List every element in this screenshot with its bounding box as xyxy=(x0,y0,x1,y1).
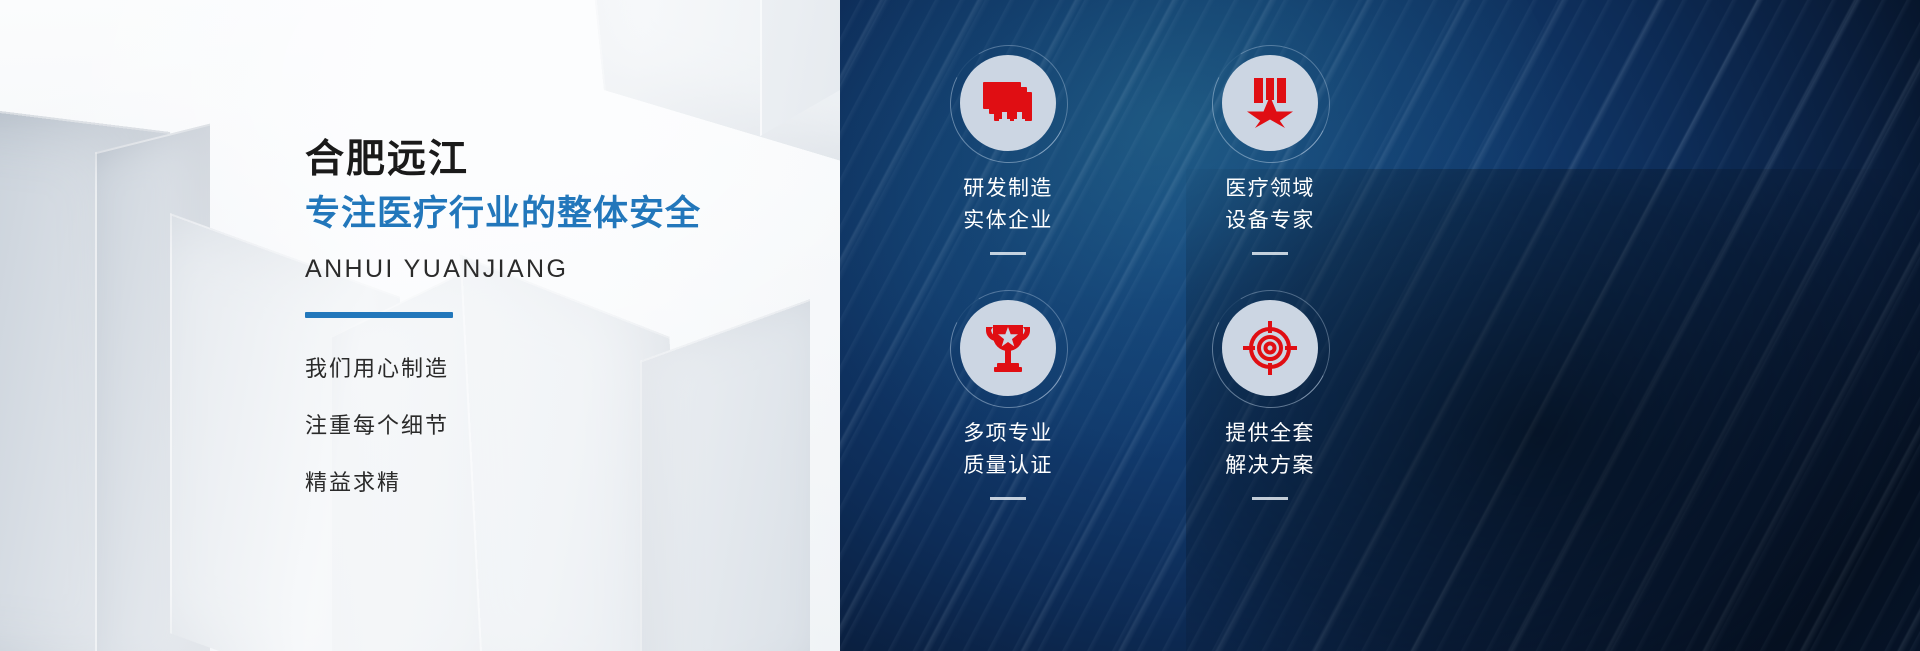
feature-label: 多项专业 质量认证 xyxy=(963,418,1053,482)
icon-container xyxy=(1222,300,1318,396)
feature-label: 医疗领域 设备专家 xyxy=(1225,173,1315,237)
company-tagline-cn: 专注医疗行业的整体安全 xyxy=(305,191,805,237)
feature-item-medical-expertise[interactable]: 医疗领域 设备专家 xyxy=(1170,0,1370,300)
feature-label-line1: 医疗领域 xyxy=(1225,173,1315,205)
feature-label-line2: 解决方案 xyxy=(1225,450,1315,482)
feature-underline xyxy=(990,252,1026,255)
feature-label-line1: 提供全套 xyxy=(1225,418,1315,450)
feature-item-full-solutions[interactable]: 提供全套 解决方案 xyxy=(1170,300,1370,651)
feature-item-rd-manufacturing[interactable]: 研发制造 实体企业 xyxy=(908,0,1108,300)
slogan-item: 我们用心制造 xyxy=(305,358,805,380)
grid-spacer xyxy=(1432,300,1920,651)
target-crosshair-icon xyxy=(1222,300,1318,396)
factory-building-icon xyxy=(960,55,1056,151)
medal-star-icon xyxy=(1222,55,1318,151)
feature-label-line2: 实体企业 xyxy=(963,205,1053,237)
slogan-item: 精益求精 xyxy=(305,472,805,494)
feature-label-line2: 设备专家 xyxy=(1225,205,1315,237)
feature-label: 研发制造 实体企业 xyxy=(963,173,1053,237)
left-hero-panel: 合肥远江 专注医疗行业的整体安全 ANHUI YUANJIANG 我们用心制造 … xyxy=(0,0,840,651)
icon-container xyxy=(960,300,1056,396)
grid-spacer xyxy=(1432,0,1920,300)
feature-underline xyxy=(990,497,1026,500)
trophy-icon xyxy=(960,300,1056,396)
feature-underline xyxy=(1252,497,1288,500)
feature-label: 提供全套 解决方案 xyxy=(1225,418,1315,482)
hero-text-block: 合肥远江 专注医疗行业的整体安全 ANHUI YUANJIANG 我们用心制造 … xyxy=(305,136,805,494)
slogan-list: 我们用心制造 注重每个细节 精益求精 xyxy=(305,358,805,494)
feature-label-line1: 研发制造 xyxy=(963,173,1053,205)
accent-divider xyxy=(305,312,453,318)
feature-grid: 研发制造 实体企业 xyxy=(840,0,1920,651)
icon-container xyxy=(960,55,1056,151)
right-features-panel: 研发制造 实体企业 xyxy=(840,0,1920,651)
company-title-cn: 合肥远江 xyxy=(305,136,805,184)
icon-container xyxy=(1222,55,1318,151)
feature-label-line1: 多项专业 xyxy=(963,418,1053,450)
feature-underline xyxy=(1252,252,1288,255)
company-title-en: ANHUI YUANJIANG xyxy=(305,255,805,284)
feature-item-quality-certifications[interactable]: 多项专业 质量认证 xyxy=(908,300,1108,651)
feature-label-line2: 质量认证 xyxy=(963,450,1053,482)
promo-banner: 合肥远江 专注医疗行业的整体安全 ANHUI YUANJIANG 我们用心制造 … xyxy=(0,0,1920,651)
slogan-item: 注重每个细节 xyxy=(305,415,805,437)
